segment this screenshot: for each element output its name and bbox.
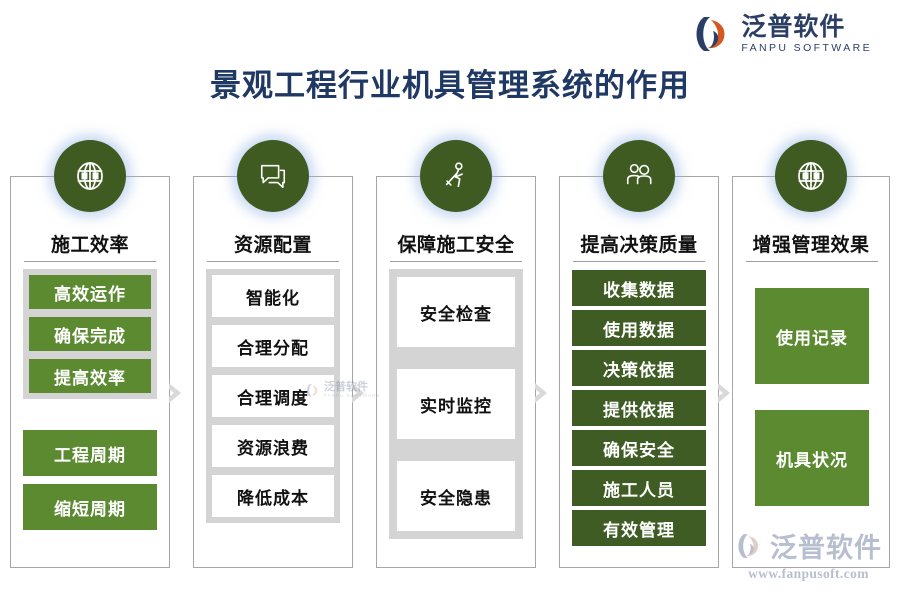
fanpu-swoosh-icon [305,383,321,398]
panel-item[interactable]: 安全隐患 [397,461,515,531]
column-title: 施工效率 [10,230,170,257]
column-item-label: 施工人员 [603,476,675,501]
column-title: 资源配置 [193,230,353,257]
fanpu-swoosh-icon [692,14,734,54]
arrow-1-2 [167,382,185,404]
chat-bubbles-icon[interactable] [237,140,309,212]
watermark-br-url: www.fanpusoft.com [735,566,882,582]
column-1[interactable]: 施工效率高效运作确保完成提高效率工程周期缩短周期 [10,176,170,568]
watermark-br-cn: 泛普软件 [770,526,882,565]
panel-item[interactable]: 资源浪费 [212,425,334,467]
construction-worker-icon[interactable] [420,140,492,212]
column-item-label: 使用记录 [776,324,848,349]
column-item-label: 确保安全 [603,436,675,461]
logo-text-cn: 泛普软件 [741,15,872,40]
column-item-label: 决策依据 [603,356,675,381]
column-item-label: 有效管理 [603,516,675,541]
column-3[interactable]: 保障施工安全安全检查实时监控安全隐患 [376,176,536,568]
title-underline [390,261,522,262]
panel-item[interactable]: 安全检查 [397,277,515,347]
column-title: 保障施工安全 [376,230,536,257]
watermark-center-en: FANPU SOFTWARE [324,394,380,399]
column-item[interactable]: 有效管理 [572,510,706,546]
panel-item-label: 合理分配 [237,334,309,359]
column-2[interactable]: 资源配置智能化合理分配合理调度资源浪费降低成本 [193,176,353,568]
column-5[interactable]: 增强管理效果使用记录机具状况 [732,176,890,568]
panel-item-label: 提高效率 [54,364,126,389]
column-item-label: 提供依据 [603,396,675,421]
column-title: 提高决策质量 [559,230,719,257]
panel-item-label: 资源浪费 [237,434,309,459]
fanpu-swoosh-icon [735,532,765,560]
infographic-canvas: 泛普软件 FANPU SOFTWARE 景观工程行业机具管理系统的作用 施工效率… [0,0,900,600]
column-item[interactable]: 确保安全 [572,430,706,466]
panel-item[interactable]: 提高效率 [29,359,151,393]
panel-item[interactable]: 实时监控 [397,369,515,439]
column-panel: 安全检查实时监控安全隐患 [389,269,523,539]
panel-item[interactable]: 确保完成 [29,317,151,351]
panel-item-label: 高效运作 [54,280,126,305]
column-item-label: 使用数据 [603,316,675,341]
column-panel: 高效运作确保完成提高效率 [23,269,157,399]
panel-item-label: 安全隐患 [420,484,492,509]
column-item[interactable]: 机具状况 [755,410,869,506]
column-title: 增强管理效果 [732,230,890,257]
title-underline [573,261,705,262]
panel-item[interactable]: 智能化 [212,275,334,317]
column-item[interactable]: 使用记录 [755,288,869,384]
title-underline [207,261,339,262]
company-logo: 泛普软件 FANPU SOFTWARE [692,14,872,54]
arrow-3-4 [533,382,551,404]
column-item[interactable]: 使用数据 [572,310,706,346]
column-item[interactable]: 施工人员 [572,470,706,506]
watermark-bottom-right: 泛普软件 www.fanpusoft.com [735,526,882,582]
column-4[interactable]: 提高决策质量收集数据使用数据决策依据提供依据确保安全施工人员有效管理 [559,176,719,568]
column-item[interactable]: 决策依据 [572,350,706,386]
panel-item-label: 合理调度 [237,384,309,409]
column-item[interactable]: 工程周期 [23,430,157,476]
panel-item-label: 智能化 [246,284,300,309]
users-group-icon[interactable] [603,140,675,212]
panel-item-label: 实时监控 [420,392,492,417]
logo-text-en: FANPU SOFTWARE [741,43,872,54]
column-item-label: 机具状况 [776,446,848,471]
column-item[interactable]: 缩短周期 [23,484,157,530]
panel-item[interactable]: 高效运作 [29,275,151,309]
watermark-center-cn: 泛普软件 [324,382,380,393]
panel-item[interactable]: 合理分配 [212,325,334,367]
column-item-label: 工程周期 [54,441,126,466]
globe-grid-icon[interactable] [775,140,847,212]
title-underline [24,261,156,262]
arrow-4-5 [716,382,734,404]
panel-item-label: 降低成本 [237,484,309,509]
watermark-center: 泛普软件 FANPU SOFTWARE [305,382,385,399]
column-item-label: 收集数据 [603,276,675,301]
title-underline [746,261,878,262]
panel-item[interactable]: 降低成本 [212,475,334,517]
column-item[interactable]: 提供依据 [572,390,706,426]
page-title: 景观工程行业机具管理系统的作用 [0,60,900,105]
globe-grid-icon[interactable] [54,140,126,212]
column-item-label: 缩短周期 [54,495,126,520]
panel-item-label: 确保完成 [54,322,126,347]
column-item[interactable]: 收集数据 [572,270,706,306]
panel-item-label: 安全检查 [420,300,492,325]
